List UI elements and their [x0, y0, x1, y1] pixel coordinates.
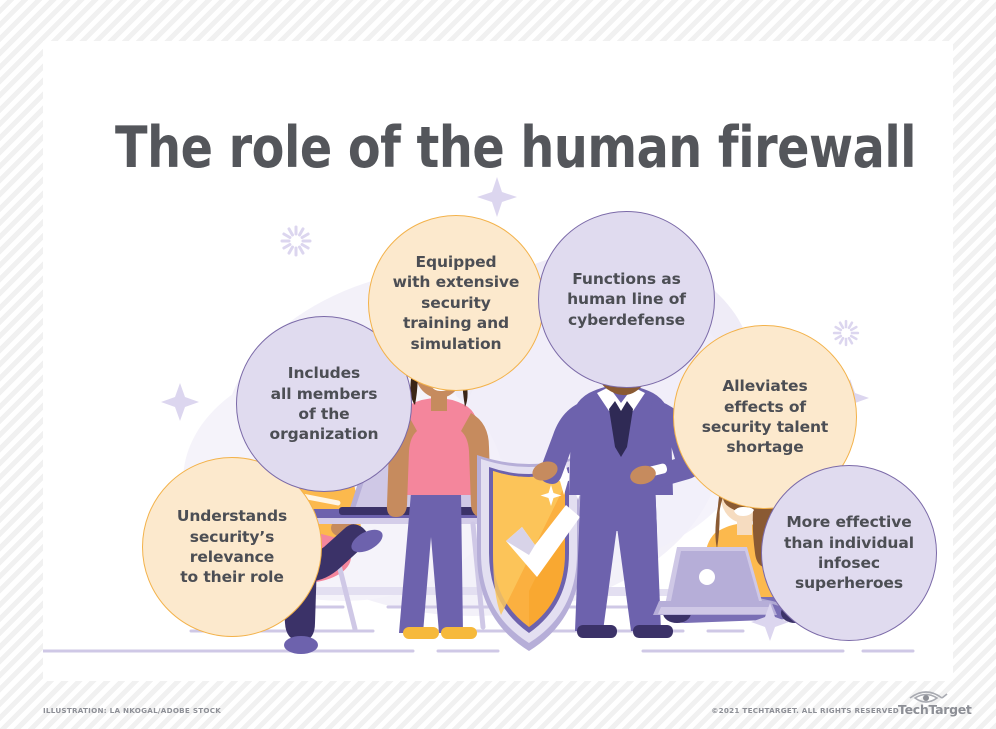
infographic-root: The role of the human firewall: [0, 0, 996, 729]
sparkle-icon: [477, 177, 517, 217]
infographic-card: The role of the human firewall: [43, 41, 953, 681]
bubble-functions: Functions ashuman line ofcyberdefense: [538, 211, 715, 388]
sparkle-icon: [161, 383, 199, 421]
eye-icon: [906, 689, 964, 703]
bubble-functions-label: Functions ashuman line ofcyberdefense: [559, 269, 694, 330]
bubble-includes-label: Includesall membersof theorganization: [262, 363, 387, 445]
bubble-more-effective: More effectivethan individualinfosecsupe…: [761, 465, 937, 641]
bubble-equipped: Equippedwith extensivesecuritytraining a…: [368, 215, 544, 391]
bubble-understands-label: Understandssecurity’srelevanceto their r…: [169, 506, 295, 588]
illustration-credit: ILLUSTRATION: LA NKOGAL/ADOBE STOCK: [43, 706, 221, 715]
bubble-more-effective-label: More effectivethan individualinfosecsupe…: [776, 512, 922, 594]
bubble-alleviates-label: Alleviateseffects ofsecurity talentshort…: [694, 376, 836, 458]
techtarget-logo: TechTarget: [898, 690, 956, 718]
bubble-equipped-label: Equippedwith extensivesecuritytraining a…: [385, 252, 528, 354]
burst-icon: [834, 321, 858, 345]
copyright-notice: ©2021 TECHTARGET. ALL RIGHTS RESERVED: [711, 706, 899, 715]
burst-icon: [282, 227, 310, 255]
techtarget-wordmark: TechTarget: [898, 702, 972, 717]
